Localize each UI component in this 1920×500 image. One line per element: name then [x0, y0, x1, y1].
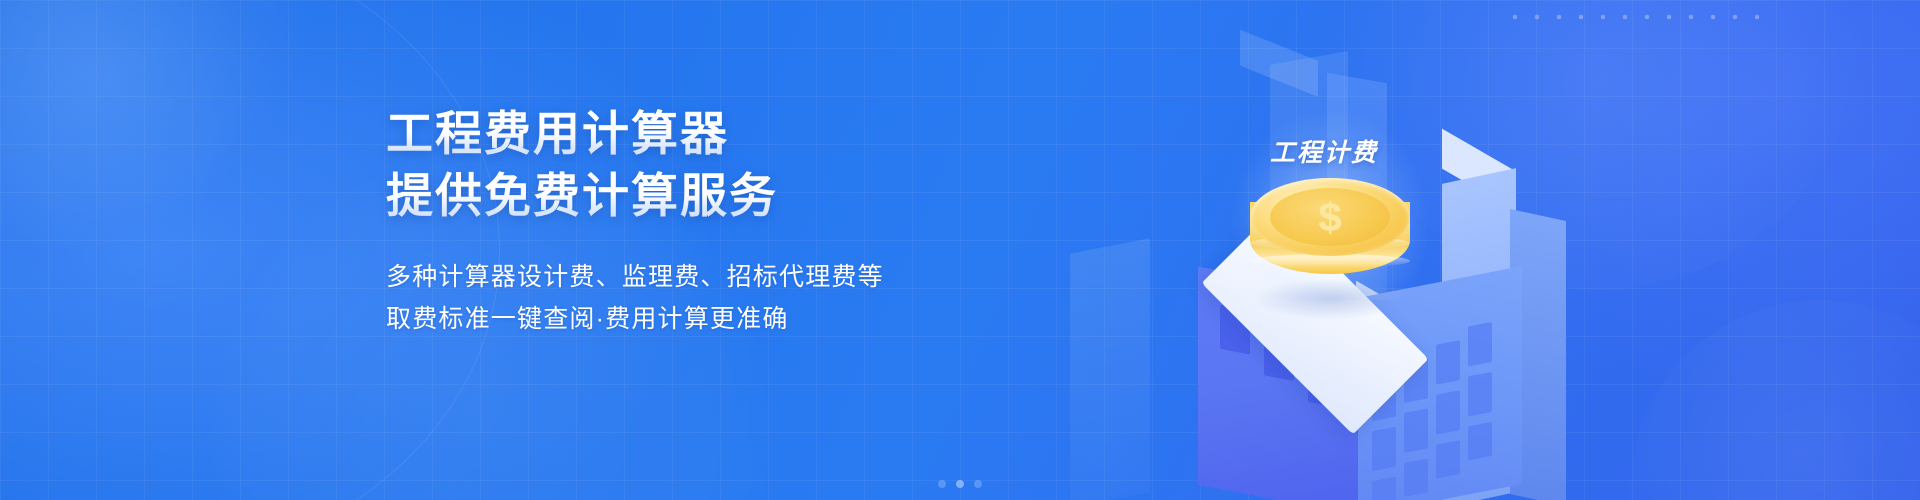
subtitle-line-1: 多种计算器设计费、监理费、招标代理费等 [386, 256, 1026, 298]
coin-ring-lowest [1250, 254, 1410, 268]
decorative-circle-top-left [0, 0, 310, 250]
banner-copy-block: 工程费用计算器 提供免费计算服务 多种计算器设计费、监理费、招标代理费等 取费标… [386, 104, 1026, 340]
subtitle-line-2: 取费标准一键查阅·费用计算更准确 [386, 298, 1026, 340]
banner-illustration: $ 工程计费 [1080, 0, 1700, 500]
headline-line-2: 提供免费计算服务 [386, 166, 1026, 226]
decorative-circle-left-mid [0, 0, 260, 240]
headline-line-1: 工程费用计算器 [386, 104, 1026, 164]
coin-stack-icon: $ [1250, 178, 1410, 304]
carousel-dot-1[interactable] [938, 480, 946, 488]
coin-inner-face: $ [1270, 188, 1390, 246]
ghost-block-left [1070, 238, 1150, 500]
dollar-sign-icon: $ [1270, 189, 1390, 244]
coin-top-face: $ [1250, 178, 1410, 256]
illustration-badge-label: 工程计费 [1270, 133, 1378, 169]
carousel-dots[interactable] [938, 480, 982, 488]
carousel-dot-3[interactable] [974, 480, 982, 488]
promo-banner: 工程费用计算器 提供免费计算服务 多种计算器设计费、监理费、招标代理费等 取费标… [0, 0, 1920, 500]
carousel-dot-2[interactable] [956, 480, 964, 488]
